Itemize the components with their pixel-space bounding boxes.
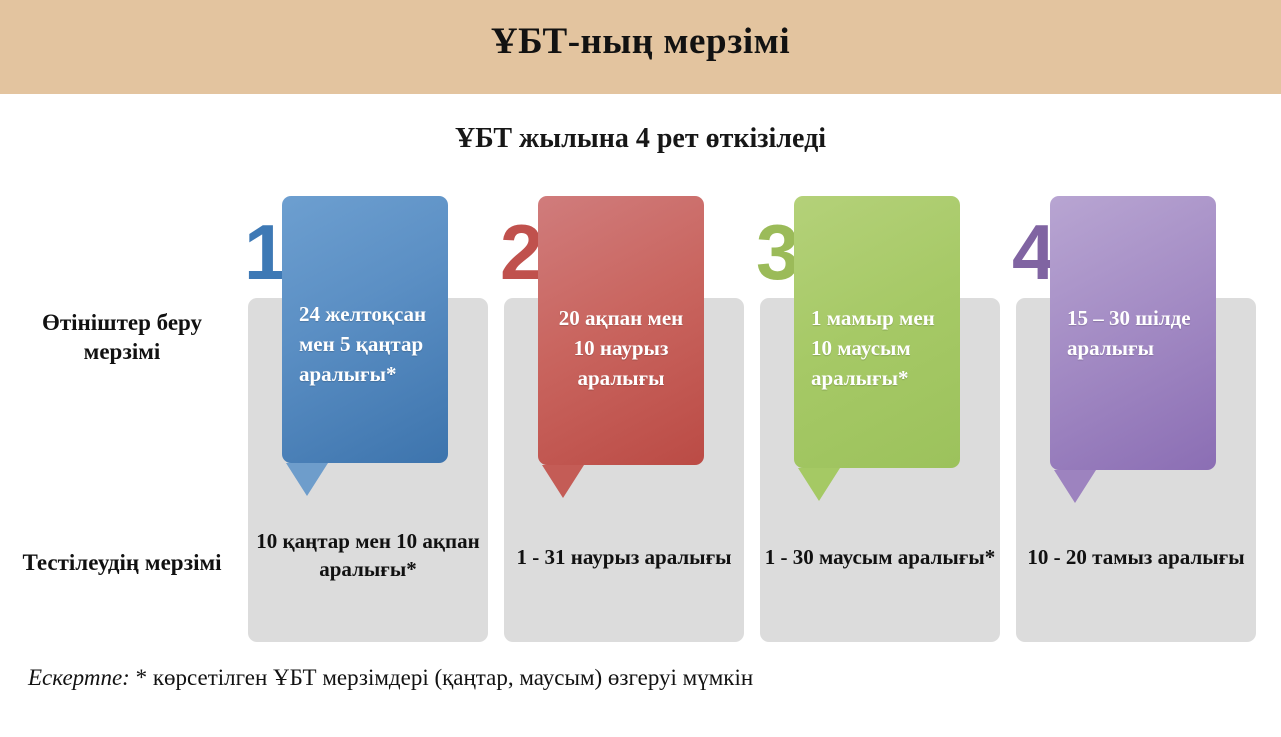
testing-text-1: 10 қаңтар мен 10 ақпан аралығы* (250, 527, 486, 583)
testing-text-2: 1 - 31 наурыз аралығы (506, 543, 742, 571)
footnote-label: Ескертпе: (28, 665, 130, 690)
footnote-text: * көрсетілген ҰБТ мерзімдері (қаңтар, ма… (136, 665, 754, 690)
timeline-column-2: 2 20 ақпан мен 10 наурыз аралығы 1 - 31 … (496, 0, 754, 737)
application-text-4: 15 – 30 шілде аралығы (1067, 304, 1204, 364)
bubble-body: 20 ақпан мен 10 наурыз аралығы (538, 196, 704, 465)
slide-root: ҰБТ-ның мерзімі ҰБТ жылына 4 рет өткізіл… (0, 0, 1281, 737)
timeline-column-4: 4 15 – 30 шілде аралығы 10 - 20 тамыз ар… (1008, 0, 1266, 737)
step-number-3: 3 (756, 213, 799, 291)
application-text-3: 1 мамыр мен 10 маусым аралығы* (811, 304, 948, 393)
bubble-tail-1 (286, 463, 328, 496)
application-bubble-3: 1 мамыр мен 10 маусым аралығы* (794, 196, 960, 468)
bubble-body: 15 – 30 шілде аралығы (1050, 196, 1216, 470)
bubble-body: 24 желтоқсан мен 5 қаңтар аралығы* (282, 196, 448, 463)
timeline-column-3: 3 1 мамыр мен 10 маусым аралығы* 1 - 30 … (752, 0, 1010, 737)
application-text-1: 24 желтоқсан мен 5 қаңтар аралығы* (299, 300, 436, 389)
bubble-tail-3 (798, 468, 840, 501)
footnote: Ескертпе: * көрсетілген ҰБТ мерзімдері (… (28, 665, 753, 691)
bubble-tail-4 (1054, 470, 1096, 503)
bubble-tail-2 (542, 465, 584, 498)
timeline-column-1: 1 24 желтоқсан мен 5 қаңтар аралығы* 10 … (240, 0, 498, 737)
step-number-2: 2 (500, 213, 543, 291)
testing-text-3: 1 - 30 маусым аралығы* (762, 543, 998, 571)
step-number-1: 1 (244, 213, 287, 291)
testing-text-4: 10 - 20 тамыз аралығы (1018, 543, 1254, 571)
bubble-body: 1 мамыр мен 10 маусым аралығы* (794, 196, 960, 468)
application-text-2: 20 ақпан мен 10 наурыз аралығы (546, 304, 696, 393)
columns-container: 1 24 желтоқсан мен 5 қаңтар аралығы* 10 … (0, 0, 1281, 737)
application-bubble-4: 15 – 30 шілде аралығы (1050, 196, 1216, 470)
application-bubble-1: 24 желтоқсан мен 5 қаңтар аралығы* (282, 196, 448, 463)
step-number-4: 4 (1012, 213, 1055, 291)
application-bubble-2: 20 ақпан мен 10 наурыз аралығы (538, 196, 704, 465)
